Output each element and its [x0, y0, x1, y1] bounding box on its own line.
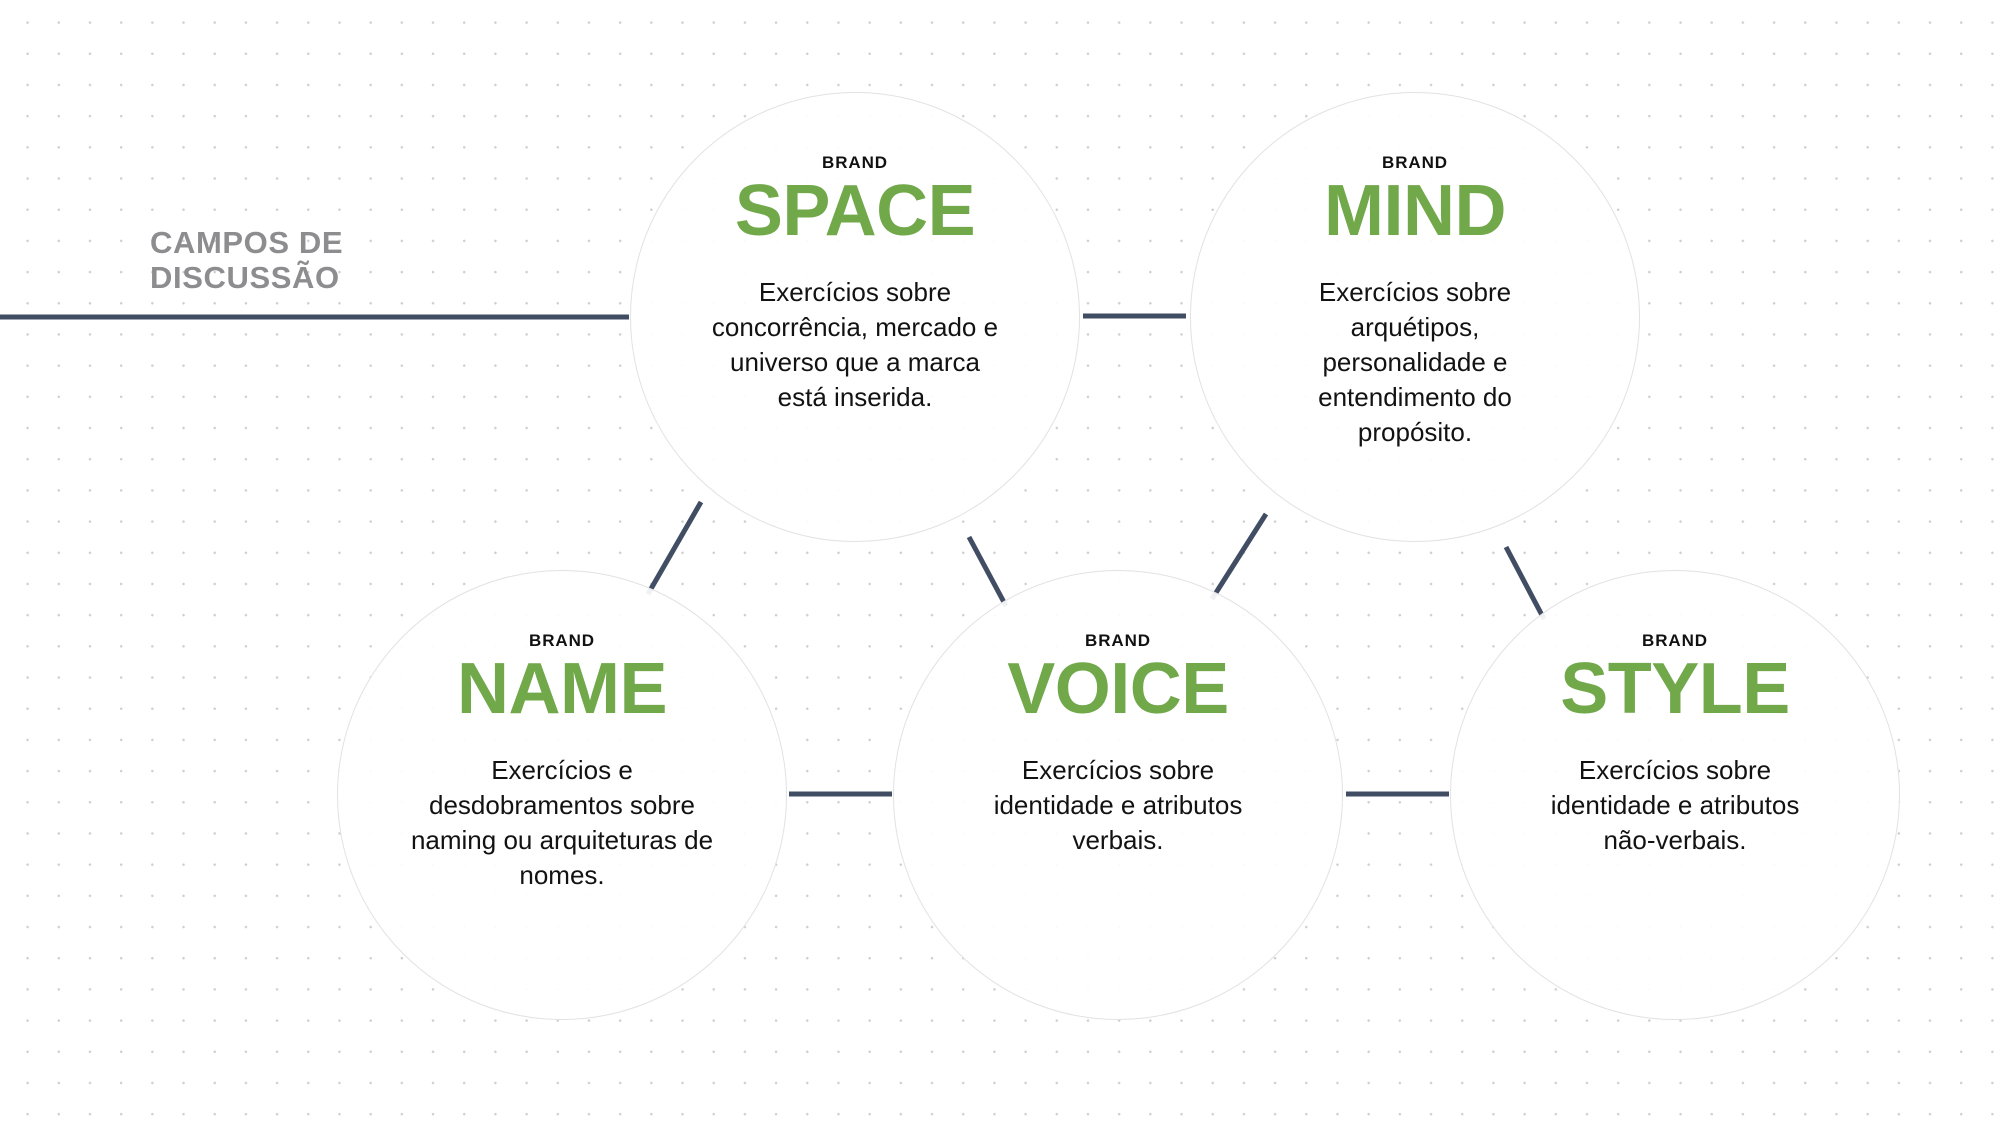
- node-brand-voice[interactable]: BRAND VOICE Exercícios sobre identidade …: [893, 570, 1343, 1020]
- node-description: Exercícios e desdobramentos sobre naming…: [402, 753, 722, 892]
- node-brand-name[interactable]: BRAND NAME Exercícios e desdobramentos s…: [337, 570, 787, 1020]
- node-eyebrow: BRAND: [1642, 631, 1708, 651]
- header-block: CAMPOS DE DISCUSSÃO: [150, 226, 570, 295]
- connector-space-to-name: [648, 502, 701, 594]
- connector-mind-to-voice: [1212, 514, 1266, 599]
- node-title: VOICE: [1007, 655, 1229, 723]
- node-eyebrow: BRAND: [529, 631, 595, 651]
- node-eyebrow: BRAND: [822, 153, 888, 173]
- node-description: Exercícios sobre arquétipos, personalida…: [1290, 275, 1540, 449]
- connector-mind-to-style: [1506, 547, 1544, 619]
- node-description: Exercícios sobre identidade e atributos …: [1525, 753, 1825, 857]
- diagram-canvas: CAMPOS DE DISCUSSÃO BRAND SPACE Exercíci…: [0, 0, 2000, 1125]
- node-title: SPACE: [735, 177, 975, 245]
- connector-space-to-voice: [969, 537, 1006, 606]
- node-brand-style[interactable]: BRAND STYLE Exercícios sobre identidade …: [1450, 570, 1900, 1020]
- node-description: Exercícios sobre identidade e atributos …: [968, 753, 1268, 857]
- node-eyebrow: BRAND: [1085, 631, 1151, 651]
- page-title: CAMPOS DE DISCUSSÃO: [150, 226, 570, 295]
- node-brand-mind[interactable]: BRAND MIND Exercícios sobre arquétipos, …: [1190, 92, 1640, 542]
- node-title: MIND: [1324, 177, 1506, 245]
- node-brand-space[interactable]: BRAND SPACE Exercícios sobre concorrênci…: [630, 92, 1080, 542]
- node-title: STYLE: [1560, 655, 1790, 723]
- node-eyebrow: BRAND: [1382, 153, 1448, 173]
- node-description: Exercícios sobre concorrência, mercado e…: [705, 275, 1005, 414]
- node-title: NAME: [457, 655, 667, 723]
